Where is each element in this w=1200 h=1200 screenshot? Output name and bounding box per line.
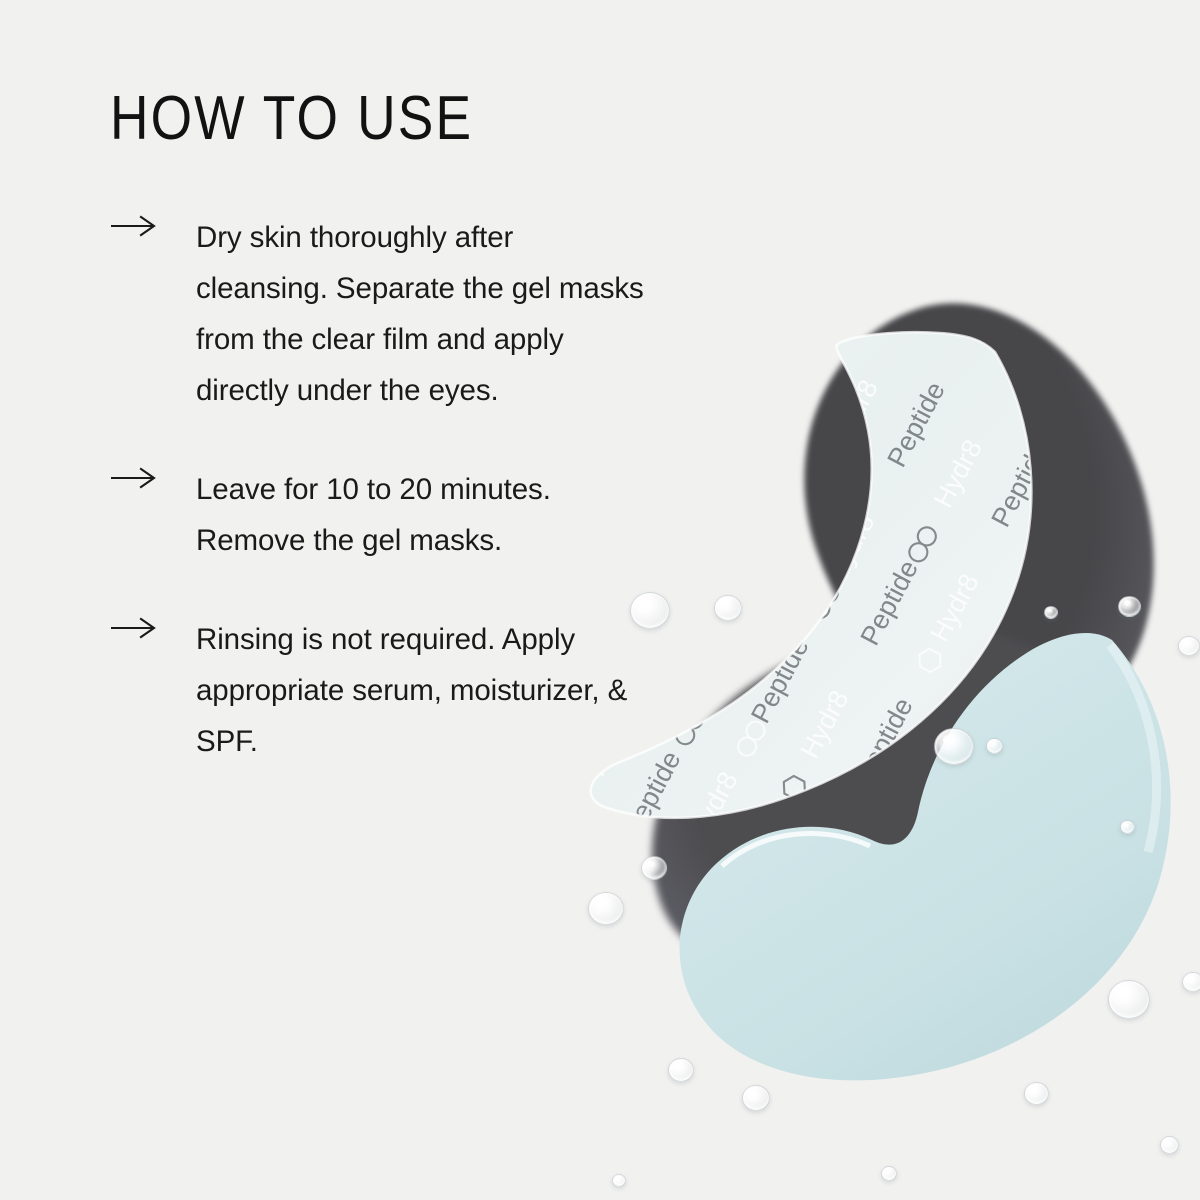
water-droplet	[1044, 606, 1058, 619]
water-droplet	[1118, 596, 1141, 617]
svg-text:Peptide: Peptide	[985, 437, 1054, 532]
svg-text:Peptide: Peptide	[1090, 497, 1159, 592]
water-droplet	[588, 892, 624, 925]
instructions-panel: HOW TO USE Dry skin thoroughly after cle…	[110, 88, 680, 767]
steps-list: Dry skin thoroughly after cleansing. Sep…	[110, 212, 680, 767]
step-text: Rinsing is not required. Apply appropria…	[196, 614, 646, 767]
svg-text:Hydr8: Hydr8	[928, 435, 988, 513]
list-item: Leave for 10 to 20 minutes. Remove the g…	[110, 464, 680, 566]
water-droplet	[1120, 820, 1135, 834]
svg-text:Peptide: Peptide	[825, 866, 894, 961]
water-droplet	[1108, 980, 1150, 1019]
svg-text:Hydr8: Hydr8	[824, 375, 884, 453]
arrow-right-icon	[110, 464, 196, 489]
svg-text:Hydr8: Hydr8	[683, 767, 743, 845]
water-droplet	[986, 738, 1003, 754]
arrow-right-icon	[110, 212, 196, 237]
svg-text:Peptide: Peptide	[750, 495, 819, 590]
gel-mask-shadow	[598, 570, 1153, 1041]
water-droplet	[1024, 1082, 1049, 1105]
svg-text:Hydr8: Hydr8	[899, 745, 959, 823]
water-droplet	[612, 1174, 626, 1187]
svg-text:Peptide: Peptide	[683, 240, 752, 335]
svg-text:Hydr8: Hydr8	[1032, 495, 1092, 573]
svg-text:Hydr8: Hydr8	[794, 686, 854, 764]
svg-text:Hydr8: Hydr8	[690, 626, 750, 704]
water-droplet	[714, 595, 742, 621]
water-droplet	[1178, 636, 1200, 656]
product-instruction-card: Hydr8 Peptide Hydr8 Peptide Peptide Hydr…	[0, 0, 1200, 1200]
svg-text:Peptide: Peptide	[959, 615, 1028, 710]
list-item: Rinsing is not required. Apply appropria…	[110, 614, 680, 767]
water-droplet	[881, 1166, 897, 1181]
svg-text:Peptide: Peptide	[881, 377, 950, 472]
arrow-right-icon	[110, 614, 196, 639]
water-droplet	[742, 1085, 770, 1111]
svg-text:Peptide: Peptide	[721, 806, 790, 901]
svg-text:Hydr8: Hydr8	[820, 509, 880, 587]
svg-text:Peptide: Peptide	[779, 314, 848, 409]
water-droplet	[668, 1058, 694, 1082]
water-droplet	[934, 728, 974, 765]
svg-text:Hydr8: Hydr8	[719, 316, 779, 394]
svg-text:Peptide: Peptide	[745, 633, 814, 728]
water-droplet	[1160, 1136, 1179, 1154]
water-droplet	[1182, 972, 1200, 992]
svg-text:Hydr8: Hydr8	[891, 887, 951, 965]
water-droplet	[641, 856, 667, 880]
svg-text:Hydr8: Hydr8	[1028, 629, 1088, 707]
svg-text:Hydr8: Hydr8	[718, 446, 778, 524]
svg-text:Hydr8: Hydr8	[924, 569, 984, 647]
svg-text:Peptide: Peptide	[953, 753, 1022, 848]
step-text: Dry skin thoroughly after cleansing. Sep…	[196, 212, 646, 416]
film-mask-shadow	[755, 260, 1200, 780]
page-title: HOW TO USE	[110, 88, 600, 150]
svg-text:Hydr8: Hydr8	[787, 827, 847, 905]
step-text: Leave for 10 to 20 minutes. Remove the g…	[196, 464, 646, 566]
svg-text:Peptide: Peptide	[849, 693, 918, 788]
list-item: Dry skin thoroughly after cleansing. Sep…	[110, 212, 680, 416]
svg-text:Peptide: Peptide	[855, 555, 924, 650]
